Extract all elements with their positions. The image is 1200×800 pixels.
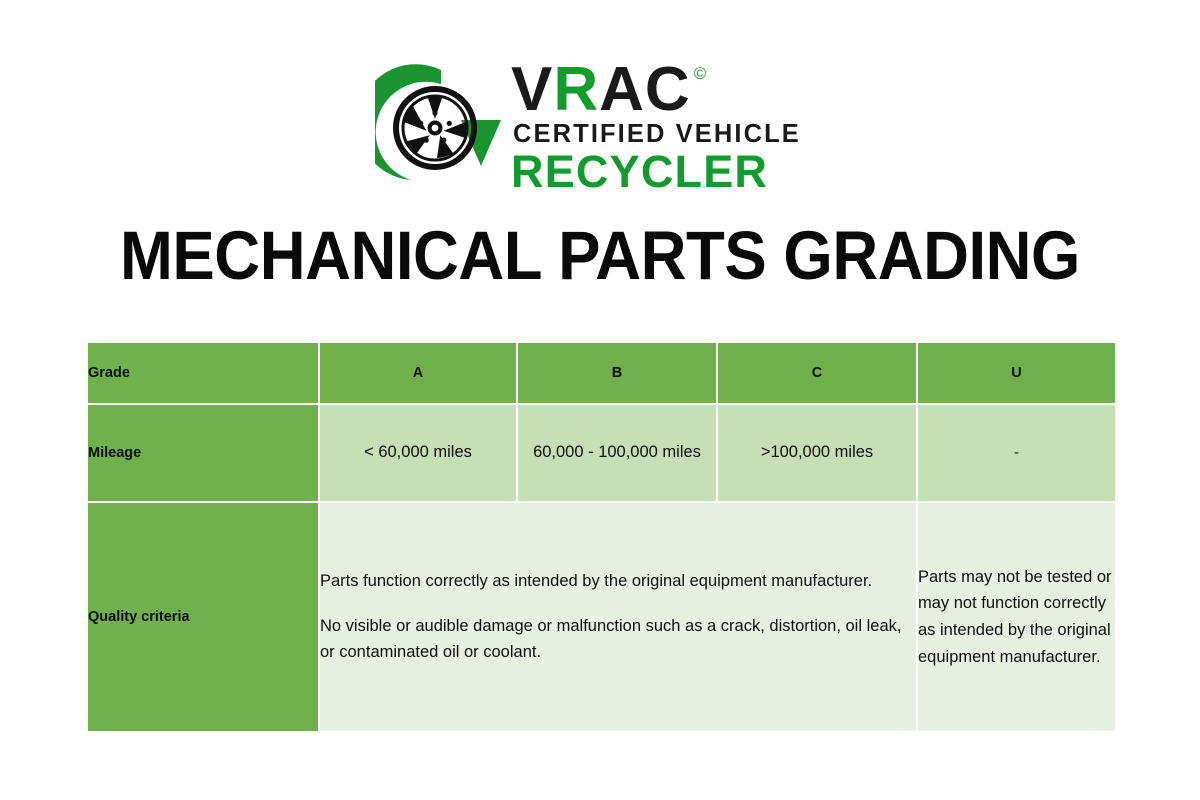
logo-wordmark: VRAC© CERTIFIED VEHICLE RECYCLER bbox=[511, 61, 801, 194]
brand-letter-r: R bbox=[553, 61, 599, 120]
quality-criteria-paragraph-2: No visible or audible damage or malfunct… bbox=[320, 613, 916, 666]
quality-criteria-paragraph-1: Parts function correctly as intended by … bbox=[320, 568, 916, 595]
table-header-row: Grade A B C U bbox=[88, 343, 1115, 403]
mileage-grade-u: - bbox=[918, 405, 1115, 501]
quality-criteria-u: Parts may not be tested or may not funct… bbox=[918, 503, 1115, 731]
recycling-arrow-wheel-icon bbox=[375, 62, 507, 194]
header-cell-c: C bbox=[718, 343, 916, 403]
logo-tagline: CERTIFIED VEHICLE bbox=[513, 122, 801, 148]
mileage-grade-b: 60,000 - 100,000 miles bbox=[518, 405, 716, 501]
header-cell-u: U bbox=[918, 343, 1115, 403]
mileage-grade-a: < 60,000 miles bbox=[320, 405, 516, 501]
header-cell-grade: Grade bbox=[88, 343, 318, 403]
table-row-quality-criteria: Quality criteria Parts function correctl… bbox=[88, 503, 1115, 731]
copyright-icon: © bbox=[694, 65, 708, 82]
logo-subbrand: RECYCLER bbox=[511, 149, 801, 195]
mileage-grade-c: >100,000 miles bbox=[718, 405, 916, 501]
table-row-mileage: Mileage < 60,000 miles 60,000 - 100,000 … bbox=[88, 405, 1115, 501]
vrac-logo: VRAC© CERTIFIED VEHICLE RECYCLER bbox=[375, 58, 835, 198]
row-label-quality-criteria: Quality criteria bbox=[88, 503, 318, 731]
header-cell-b: B bbox=[518, 343, 716, 403]
row-label-mileage: Mileage bbox=[88, 405, 318, 501]
header-cell-a: A bbox=[320, 343, 516, 403]
brand-letters-ac: AC bbox=[599, 61, 691, 120]
brand-letter-v: V bbox=[511, 61, 553, 120]
quality-criteria-abc: Parts function correctly as intended by … bbox=[320, 503, 916, 731]
page-title: MECHANICAL PARTS GRADING bbox=[48, 216, 1152, 295]
brand-name: VRAC© bbox=[511, 61, 801, 120]
mechanical-parts-grading-table: Grade A B C U Mileage < 60,000 miles 60,… bbox=[86, 341, 1117, 733]
grading-poster: VRAC© CERTIFIED VEHICLE RECYCLER MECHANI… bbox=[0, 0, 1200, 800]
